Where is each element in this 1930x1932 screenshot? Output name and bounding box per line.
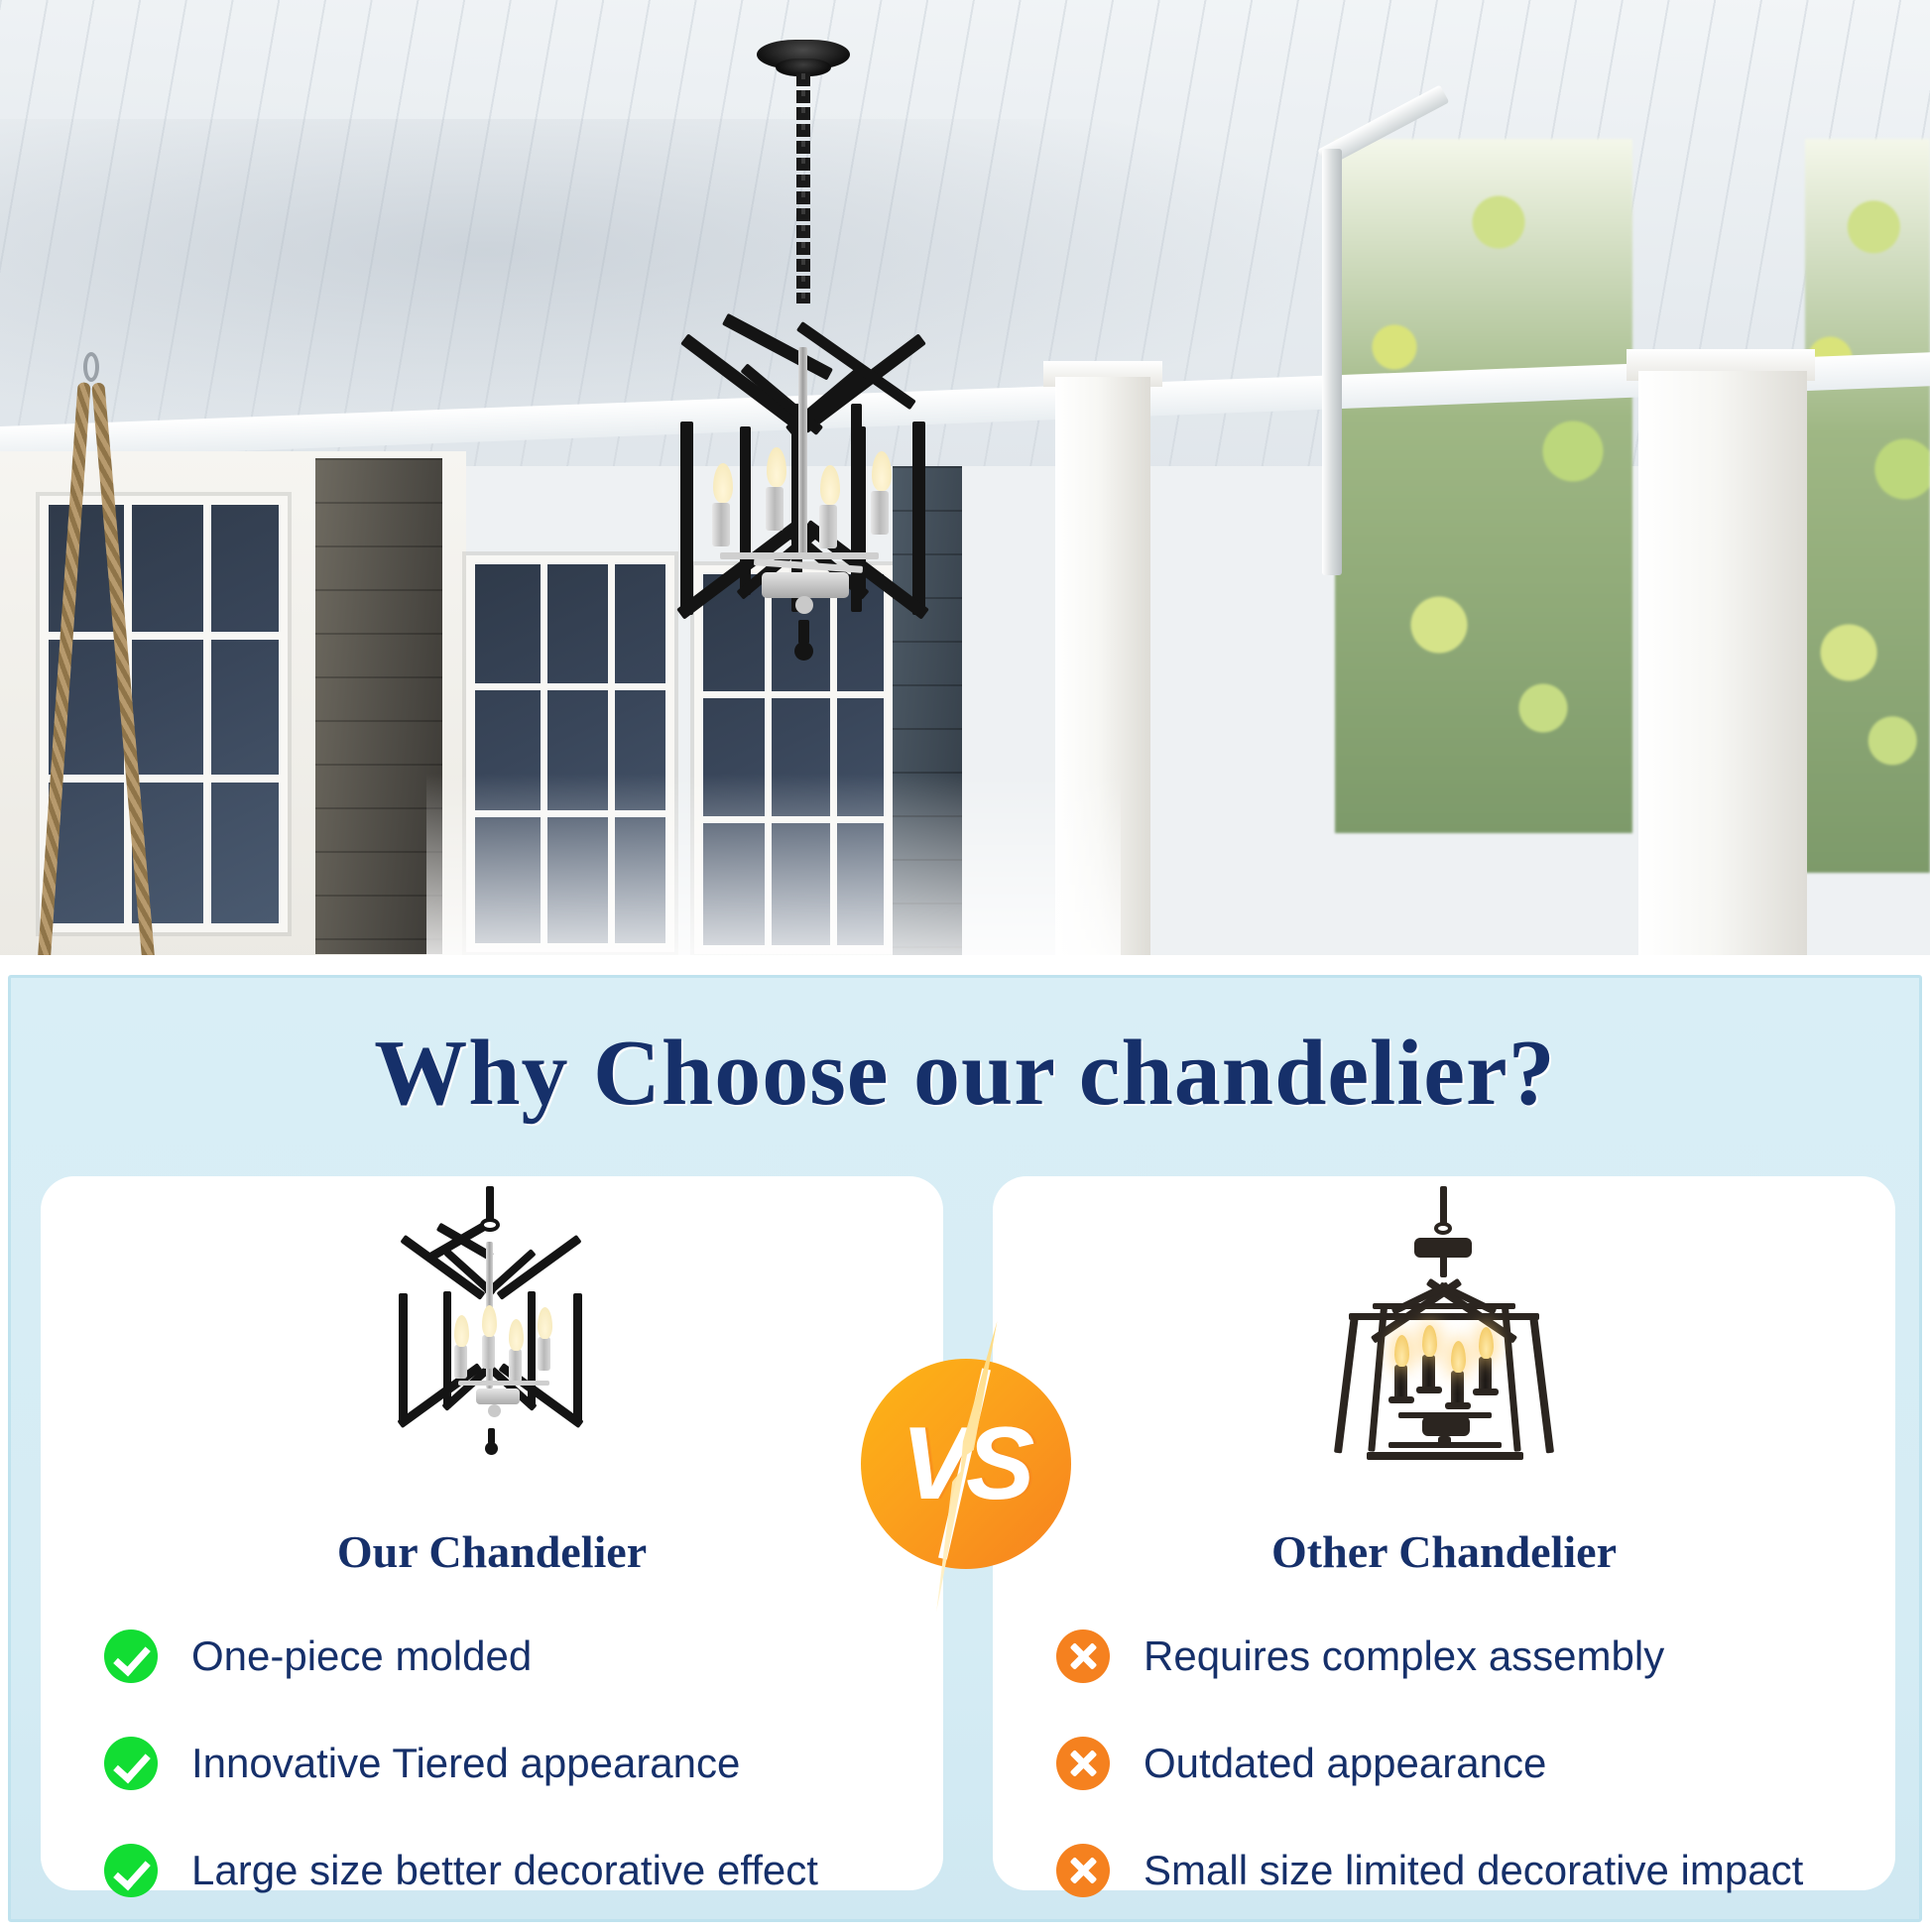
floor-glare [426, 774, 1121, 955]
list-item: One-piece molded [104, 1611, 917, 1702]
bullet-label: Small size limited decorative impact [1144, 1848, 1803, 1893]
candle-socket [819, 505, 837, 548]
candle-bulb [820, 465, 840, 505]
page-title: Why Choose our chandelier? [11, 1020, 1919, 1127]
card-our-chandelier[interactable]: Our Chandelier One-piece molded Innovati… [41, 1176, 943, 1890]
check-icon [104, 1844, 158, 1897]
cross-icon [1056, 1844, 1110, 1897]
bullet-label: One-piece molded [191, 1633, 532, 1679]
candle-socket [766, 487, 784, 531]
bullet-label: Large size better decorative effect [191, 1848, 818, 1893]
chandelier-cage [595, 293, 1012, 699]
list-item: Small size limited decorative impact [1056, 1825, 1870, 1916]
candle-bulb [767, 447, 786, 487]
chandelier-chain [796, 73, 810, 303]
bullet-label: Outdated appearance [1144, 1741, 1546, 1786]
porch-column-2 [1638, 371, 1807, 955]
candle-bulb [713, 463, 733, 503]
candle-socket [871, 491, 889, 535]
our-chandelier-image [41, 1186, 943, 1513]
cross-icon [1056, 1630, 1110, 1683]
hero-product-photo [0, 0, 1930, 955]
list-item: Requires complex assembly [1056, 1611, 1870, 1702]
downspout-pipe [1322, 149, 1342, 575]
card-title-our: Our Chandelier [41, 1525, 943, 1578]
hero-chandelier [595, 40, 1012, 734]
candle-socket [712, 503, 730, 546]
our-chandelier-bullets: One-piece molded Innovative Tiered appea… [104, 1611, 917, 1932]
bullet-label: Innovative Tiered appearance [191, 1741, 740, 1786]
swing-hook [83, 352, 99, 382]
bullet-label: Requires complex assembly [1144, 1633, 1664, 1679]
vs-badge: VS [861, 1359, 1071, 1569]
card-title-other: Other Chandelier [993, 1525, 1895, 1578]
other-chandelier-image [993, 1186, 1895, 1513]
list-item: Innovative Tiered appearance [104, 1718, 917, 1809]
card-other-chandelier[interactable]: Other Chandelier Requires complex assemb… [993, 1176, 1895, 1890]
foliage-right-gap [1335, 139, 1632, 833]
shingle-column-left [315, 458, 442, 954]
foliage-far-right [1805, 139, 1930, 873]
list-item: Large size better decorative effect [104, 1825, 917, 1916]
cross-icon [1056, 1737, 1110, 1790]
list-item: Outdated appearance [1056, 1718, 1870, 1809]
candle-bulb [872, 451, 892, 491]
check-icon [104, 1630, 158, 1683]
other-chandelier-bullets: Requires complex assembly Outdated appea… [1056, 1611, 1870, 1932]
check-icon [104, 1737, 158, 1790]
